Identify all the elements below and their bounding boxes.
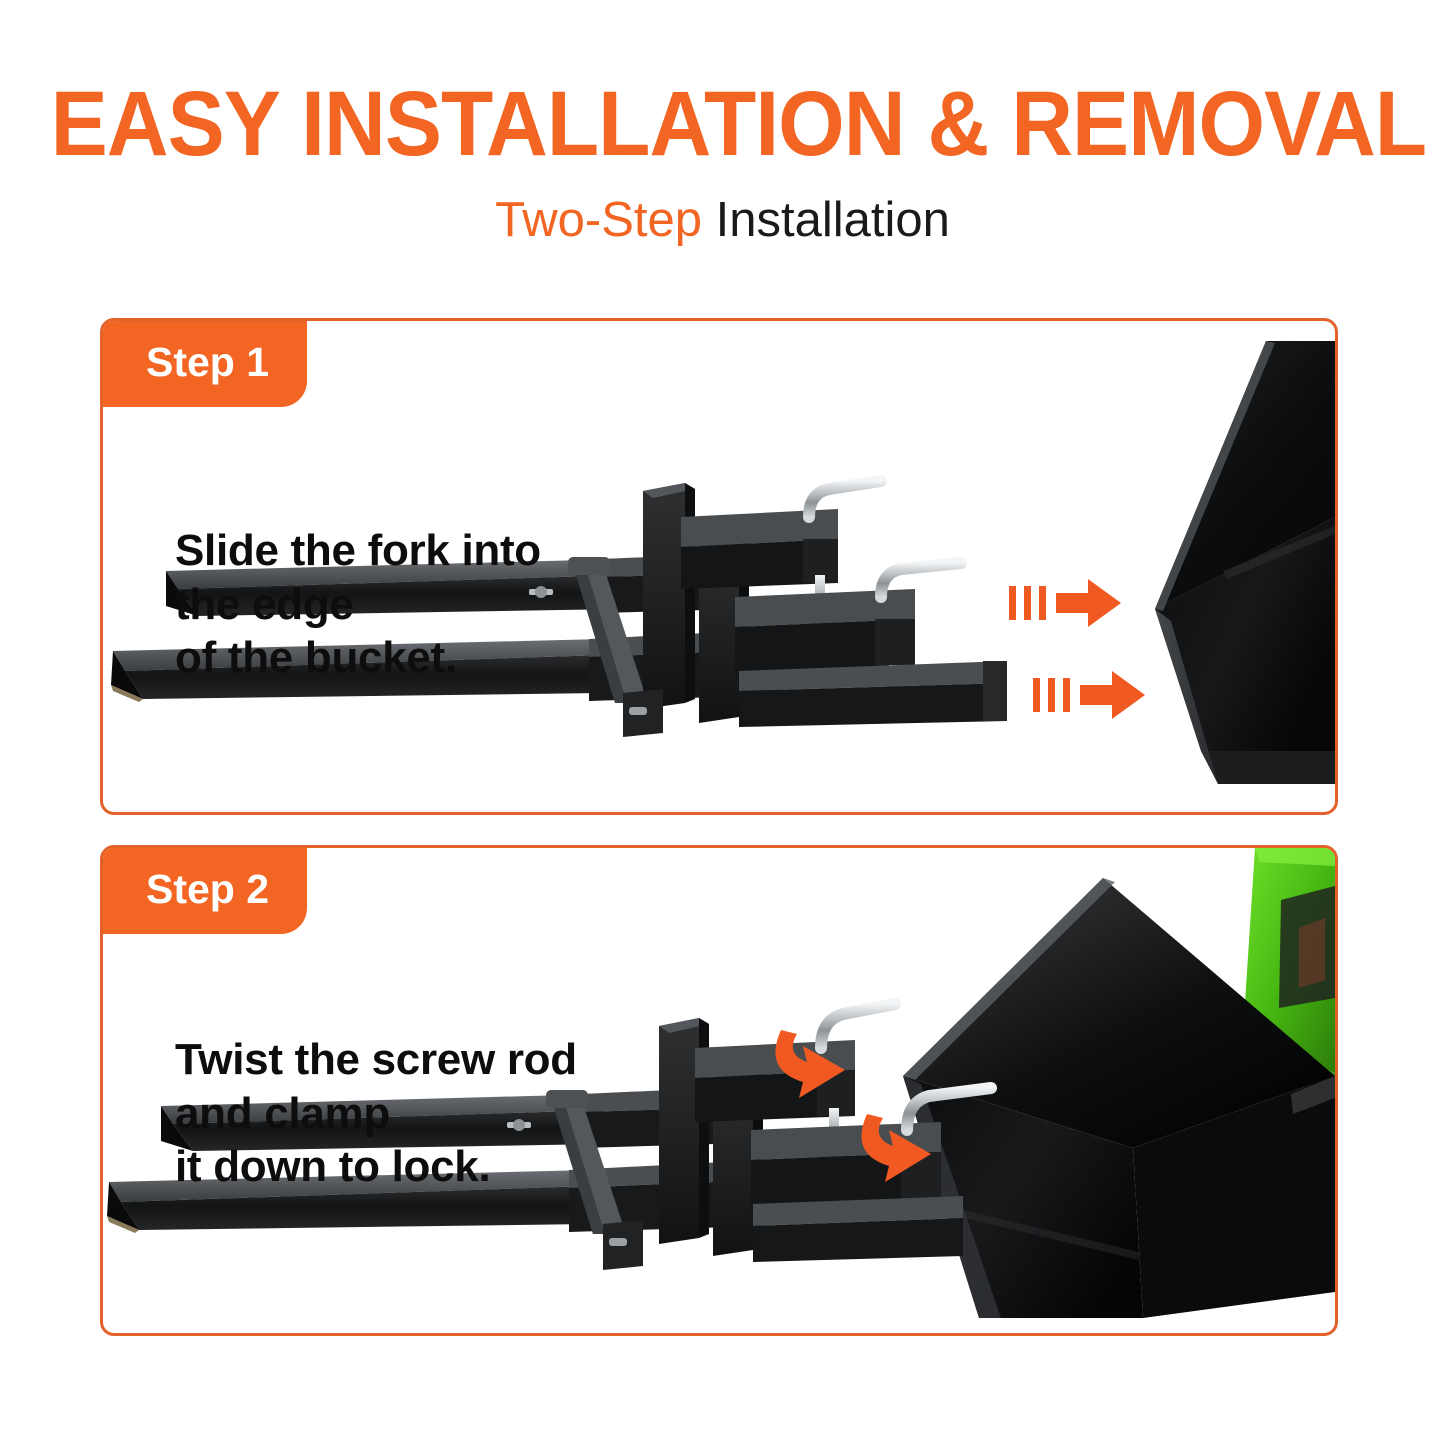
infographic-page: EASY INSTALLATION & REMOVAL Two-Step Ins… bbox=[0, 0, 1445, 1445]
step-instruction-1: Slide the fork into the edge of the buck… bbox=[175, 524, 541, 685]
step-badge-2: Step 2 bbox=[102, 847, 307, 934]
bottom-cross-bar bbox=[739, 661, 1007, 727]
subtitle-rest: Installation bbox=[702, 193, 950, 247]
step-card-1: Step 1 Slide the fork into the edge of t… bbox=[100, 318, 1338, 815]
page-subtitle: Two-Step Installation bbox=[0, 196, 1445, 245]
page-title: EASY INSTALLATION & REMOVAL bbox=[51, 78, 1395, 170]
header: EASY INSTALLATION & REMOVAL Two-Step Ins… bbox=[0, 0, 1445, 245]
motion-arrow-upper bbox=[1009, 579, 1121, 627]
motion-arrow-lower bbox=[1033, 671, 1145, 719]
step-card-2: Step 2 Twist the screw rod and clamp it … bbox=[100, 845, 1338, 1336]
step-instruction-2: Twist the screw rod and clamp it down to… bbox=[175, 1033, 577, 1194]
loader-bucket bbox=[1155, 341, 1335, 784]
step-badge-1: Step 1 bbox=[102, 320, 307, 407]
bottom-cross-bar bbox=[753, 1196, 963, 1262]
subtitle-accent: Two-Step bbox=[495, 193, 702, 247]
